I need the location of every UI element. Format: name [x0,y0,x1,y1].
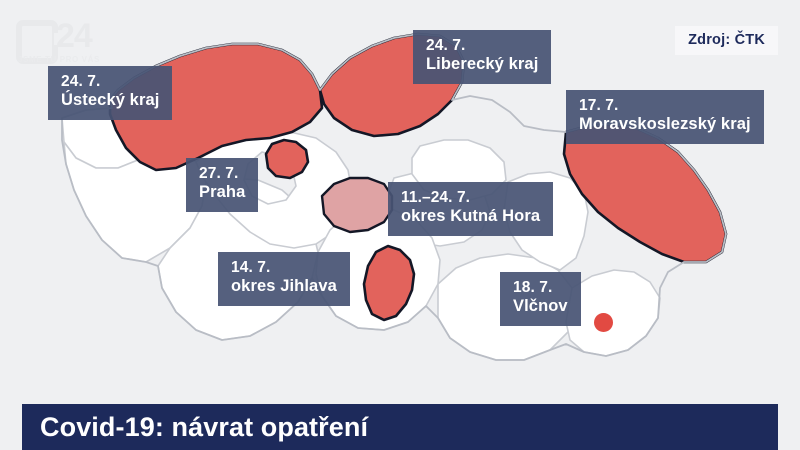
callout-okres-jihlava[interactable]: 14. 7. okres Jihlava [218,252,350,306]
callout-date: 17. 7. [579,97,751,115]
bottom-banner: Covid-19: návrat opatření [22,404,778,450]
callout-date: 24. 7. [426,37,538,55]
map-districts-light [322,178,392,232]
callout-place: Vlčnov [513,297,568,316]
infographic-canvas: 24 JSME TU PRO VÁS Zdroj: ČTK [0,0,800,450]
region-praha-highlight[interactable] [266,140,308,178]
callout-place: Liberecký kraj [426,55,538,74]
region-moravskoslezsky-highlight[interactable] [564,124,726,262]
district-kutna-hora-highlight[interactable] [322,178,392,232]
callout-okres-kutna-hora[interactable]: 11.–24. 7. okres Kutná Hora [388,182,553,236]
callout-date: 14. 7. [231,259,337,277]
callout-place: Ústecký kraj [61,91,159,110]
callout-moravskoslezsky-kraj[interactable]: 17. 7. Moravskoslezský kraj [566,90,764,144]
callout-date: 24. 7. [61,73,159,91]
callout-date: 18. 7. [513,279,568,297]
callout-ustecky-kraj[interactable]: 24. 7. Ústecký kraj [48,66,172,120]
callout-place: Moravskoslezský kraj [579,115,751,134]
callout-date: 11.–24. 7. [401,189,540,207]
callout-vlcnov[interactable]: 18. 7. Vlčnov [500,272,581,326]
callout-place: okres Jihlava [231,277,337,296]
callout-liberecky-kraj[interactable]: 24. 7. Liberecký kraj [413,30,551,84]
banner-title: Covid-19: návrat opatření [22,412,368,443]
callout-place: okres Kutná Hora [401,207,540,226]
callout-date: 27. 7. [199,165,245,183]
map-marker-vlcnov[interactable] [594,313,613,332]
callout-praha[interactable]: 27. 7. Praha [186,158,258,212]
callout-place: Praha [199,183,245,202]
